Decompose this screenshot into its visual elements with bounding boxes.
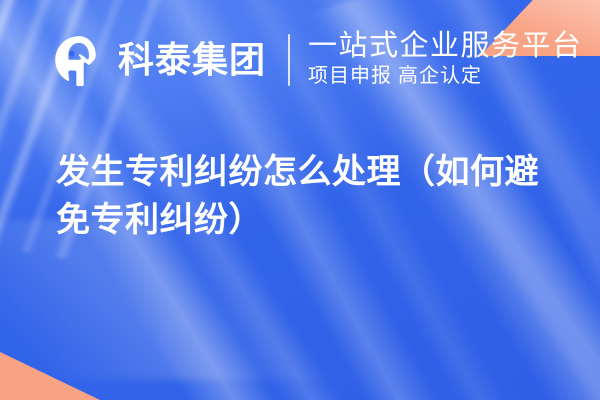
promo-banner: 科泰集团 一站式企业服务平台 项目申报 高企认定 发生专利纠纷怎么处理（如何避免… <box>0 0 600 400</box>
page-title: 发生专利纠纷怎么处理（如何避免专利纠纷） <box>56 148 548 245</box>
header-divider <box>288 34 290 86</box>
brand-name: 科泰集团 <box>118 42 266 78</box>
tagline-group: 一站式企业服务平台 项目申报 高企认定 <box>308 31 583 90</box>
banner-header: 科泰集团 一站式企业服务平台 项目申报 高企认定 <box>0 0 600 120</box>
ketai-circle-logo-icon <box>52 34 106 88</box>
tagline-main: 一站式企业服务平台 <box>308 31 583 63</box>
article-title-block: 发生专利纠纷怎么处理（如何避免专利纠纷） <box>56 148 548 245</box>
tagline-sub: 项目申报 高企认定 <box>308 64 583 89</box>
